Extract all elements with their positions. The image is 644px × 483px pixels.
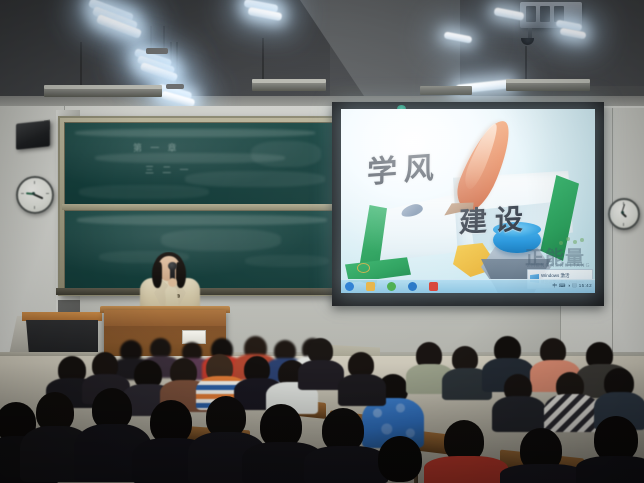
audience-shoulder [576,456,644,483]
wall-speaker-icon [16,120,50,150]
light-fixture-bar [420,86,472,95]
light-rod [80,42,82,88]
light-fixture-bar [506,82,590,91]
wall-clock-left [16,176,54,214]
wall-clock-right [608,198,640,230]
blackboard-panel-top: 第 一 章 三 二 一 [64,122,348,206]
chalk-tray [56,288,352,295]
light-fixture-bar-top [252,79,326,83]
taskbar-system-tray[interactable]: 中 ⌨ ◑ ▤ 15:42 [552,283,592,289]
projector-vent [526,6,536,22]
audience-shoulder-red-hoodie [424,456,508,483]
lecture-hall-photo: 第 一 章 三 二 一 [0,0,644,483]
presenter-hair-right [176,262,186,288]
audience-head [378,436,422,482]
light-fixture-bar-top [44,85,162,89]
light-bracket [146,48,168,54]
light-bracket [166,84,184,89]
light-rod [262,38,264,84]
audience-shoulder [492,396,546,432]
presenter-hand [168,278,177,287]
start-button[interactable] [345,282,354,291]
audience-shoulder [338,374,386,406]
recording-app-icon[interactable] [429,282,438,291]
light-fixture-bar-top [506,79,590,83]
presenter-hair-left [152,262,162,288]
media-player-icon[interactable] [408,282,417,291]
audience-shoulder [500,464,586,483]
audience-shoulder [304,446,388,483]
microphone-head [168,262,177,270]
slide-headline-part-1: 学风 [367,142,442,191]
chalk-text-line-1: 第 一 章 [133,141,180,154]
slide-ribbon-loop-icon [357,263,370,273]
chalk-text-line-2: 三 二 一 [145,163,192,176]
projection-screen: 学风 建设 正能量 ZHENGNENGLIANG Windows 激活 转到设置… [341,109,595,293]
light-fixture-bar [44,88,162,97]
slide-headline-part-2: 建设 [459,197,532,241]
light-fixture-bar [252,82,326,91]
windows-taskbar[interactable]: 中 ⌨ ◑ ▤ 15:42 [341,279,595,293]
file-explorer-icon[interactable] [366,282,375,291]
blackboard: 第 一 章 三 二 一 [58,116,352,296]
browser-icon[interactable] [387,282,396,291]
blackboard-panel-bottom [64,210,348,292]
audience-shoulder-checkered [544,394,600,432]
projector-vent [540,6,550,22]
audience [0,316,644,483]
